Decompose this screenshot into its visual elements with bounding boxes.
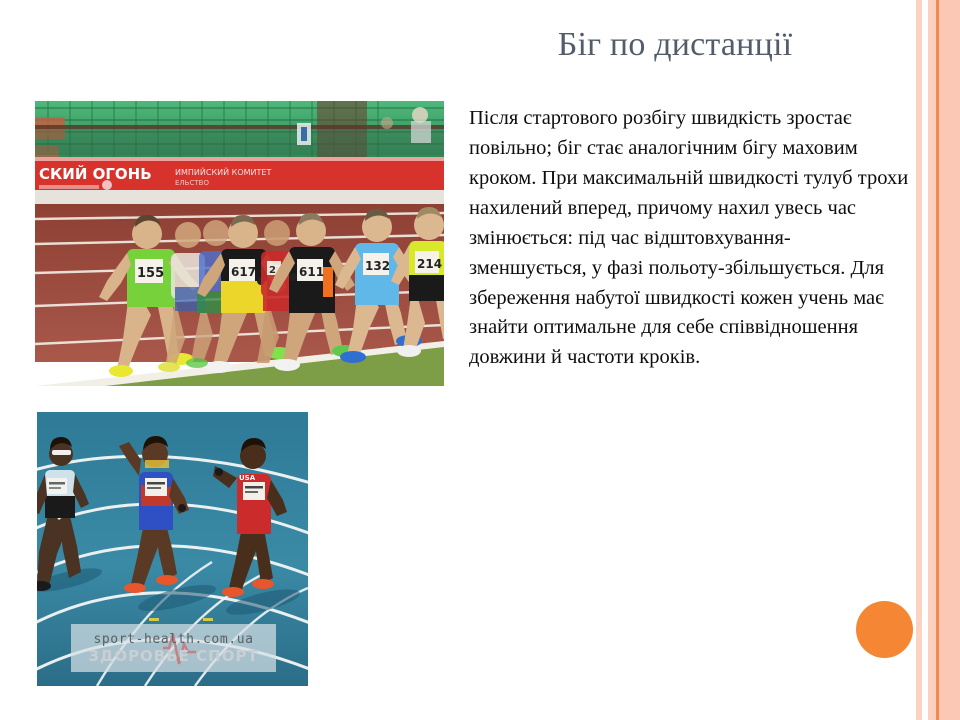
- photo-sprint-race: USA sport-health.com.ua ЗДОРОВЬЕ СПОРТ: [37, 412, 308, 686]
- svg-text:155: 155: [137, 266, 164, 281]
- svg-text:2: 2: [269, 265, 276, 276]
- orange-circle-accent: [856, 601, 913, 658]
- svg-text:617: 617: [231, 265, 256, 279]
- svg-text:СКИЙ ОГОНЬ: СКИЙ ОГОНЬ: [39, 164, 152, 183]
- stripe-band-wide: [939, 0, 960, 720]
- slide: Біг по дистанції Після стартового розбіг…: [0, 0, 960, 720]
- photo-distance-race: СКИЙ ОГОНЬ ИМПИЙСКИЙ КОМИТЕТ ЕЛЬСТВО: [35, 101, 444, 386]
- svg-text:ИМПИЙСКИЙ КОМИТЕТ: ИМПИЙСКИЙ КОМИТЕТ: [175, 166, 271, 177]
- sprint-race-illustration: USA: [37, 412, 308, 686]
- stripe-thin-outer: [916, 0, 922, 720]
- body-paragraph: Після стартового розбігу швидкість зрост…: [469, 104, 909, 373]
- svg-text:214: 214: [417, 257, 442, 271]
- svg-text:611: 611: [299, 265, 324, 279]
- svg-text:USA: USA: [239, 474, 256, 482]
- svg-text:132: 132: [365, 259, 390, 273]
- svg-text:ЕЛЬСТВО: ЕЛЬСТВО: [175, 179, 209, 187]
- stripe-band-light: [928, 0, 936, 720]
- distance-race-illustration: СКИЙ ОГОНЬ ИМПИЙСКИЙ КОМИТЕТ ЕЛЬСТВО: [35, 101, 444, 386]
- page-title: Біг по дистанції: [455, 26, 895, 63]
- decorative-stripes: [915, 0, 960, 720]
